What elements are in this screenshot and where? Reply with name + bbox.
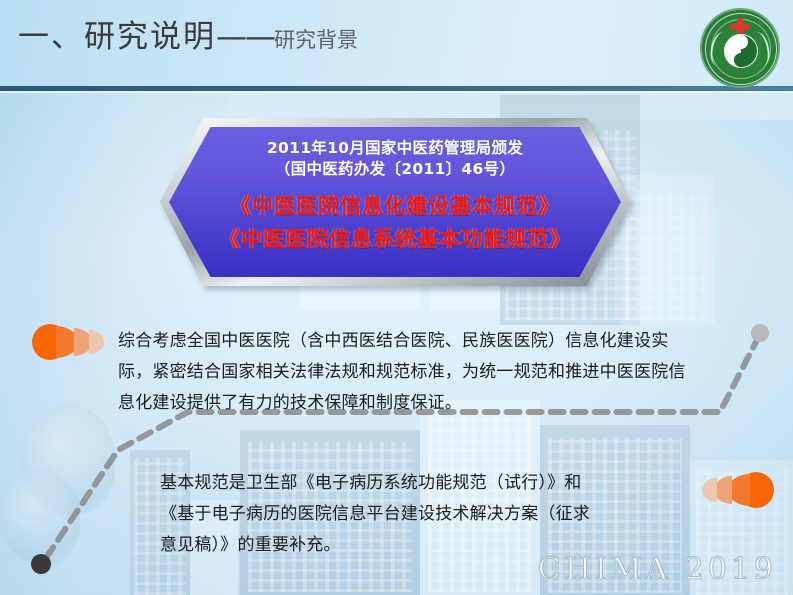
banner-line-2: （国中医药办发〔2011〕46号） (160, 159, 630, 180)
banner-line-4: 《中医医院信息系统基本功能规范》 (160, 222, 630, 255)
logo-medical-cross-bar-icon (730, 24, 750, 30)
bullet-trail-3-icon (702, 478, 717, 502)
slide-header: 一、研究说明 —— 研究背景 (0, 0, 793, 92)
footer-watermark: CHIMA 2019 (538, 552, 777, 587)
body-paragraph-2: 基本规范是卫生部《电子病历系统功能规范（试行）》和 《基于电子病历的医院信息平台… (160, 468, 660, 561)
slide-root: 一、研究说明 —— 研究背景 2011年10月国家中医药管理局颁发 （国中医药办… (0, 0, 793, 595)
page-title: 一、研究说明 —— 研究背景 (18, 22, 358, 53)
bullet-marker-right (680, 470, 774, 510)
body-paragraph-1: 综合考虑全国中医医院（含中西医结合医院、民族医医院）信息化建设实际，紧密结合国家… (118, 326, 686, 419)
dashed-path-end-dot (751, 324, 769, 342)
title-subtitle-text: 研究背景 (274, 30, 358, 53)
bullet-marker-left (32, 322, 126, 362)
body-paragraph-2-line-1: 基本规范是卫生部《电子病历系统功能规范（试行）》和 (160, 468, 660, 499)
banner-line-1: 2011年10月国家中医药管理局颁发 (160, 138, 630, 159)
banner-text-block: 2011年10月国家中医药管理局颁发 （国中医药办发〔2011〕46号） 《中医… (160, 138, 630, 255)
highlight-banner: 2011年10月国家中医药管理局颁发 （国中医药办发〔2011〕46号） 《中医… (160, 118, 630, 286)
dashed-path-start-dot (31, 554, 51, 574)
banner-line-3: 《中医医院信息化建设基本规范》 (160, 180, 630, 222)
title-main-text: 一、研究说明 (18, 22, 216, 53)
title-dash: —— (216, 22, 274, 53)
header-divider-highlight (0, 91, 793, 93)
body-paragraph-2-line-2: 《基于电子病历的医院信息平台建设技术解决方案（征求 (160, 499, 660, 530)
logo-taiji-icon (724, 34, 758, 68)
bullet-trail-3-icon (89, 330, 104, 354)
hospital-logo-icon (700, 8, 780, 88)
